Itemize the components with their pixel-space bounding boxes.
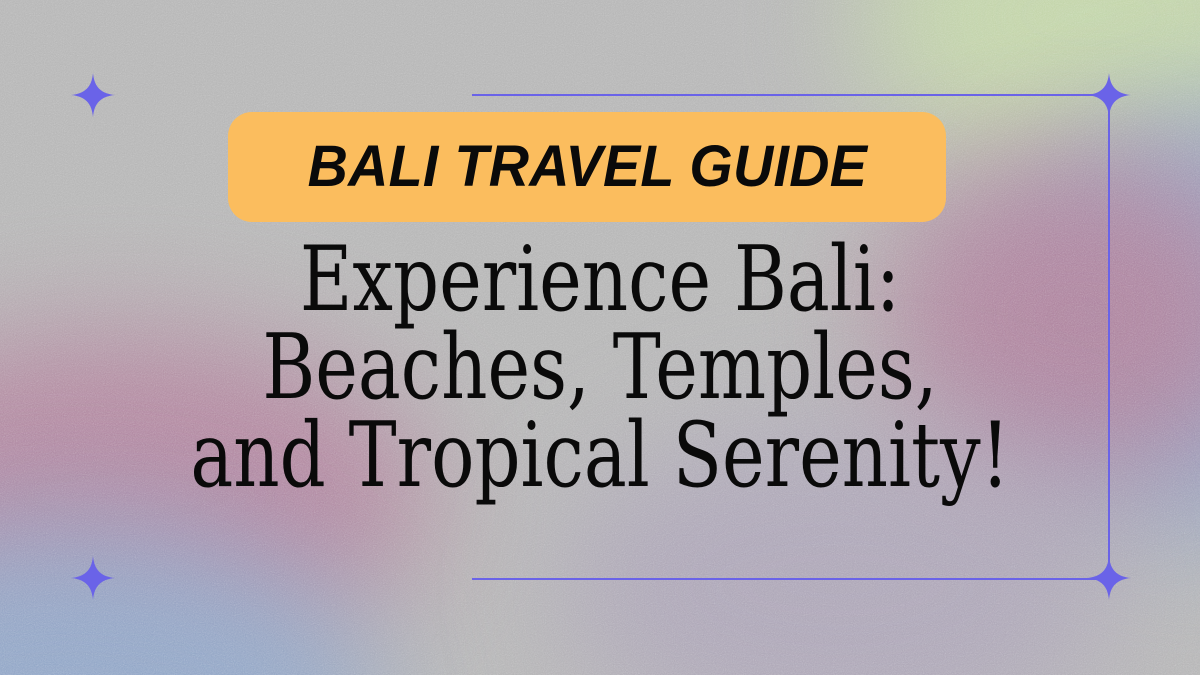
frame-line-bottom — [472, 578, 1110, 580]
headline-line-3: and Tropical Serenity! — [120, 412, 1080, 500]
sparkle-star-icon-top-left — [71, 73, 115, 117]
page-title: Experience Bali: Beaches, Temples, and T… — [0, 236, 1200, 500]
headline-line-2: Beaches, Temples, — [120, 324, 1080, 412]
headline-line-1: Experience Bali: — [120, 236, 1080, 324]
eyebrow-badge: BALI TRAVEL GUIDE — [228, 112, 946, 222]
sparkle-star-icon-top-right — [1087, 73, 1131, 117]
gradient-blob-blue-left — [0, 520, 380, 675]
eyebrow-badge-label: BALI TRAVEL GUIDE — [307, 138, 867, 196]
poster-canvas: BALI TRAVEL GUIDE Experience Bali: Beach… — [0, 0, 1200, 675]
frame-line-top — [472, 94, 1110, 96]
sparkle-star-icon-bottom-left — [71, 556, 115, 600]
sparkle-star-icon-bottom-right — [1087, 556, 1131, 600]
